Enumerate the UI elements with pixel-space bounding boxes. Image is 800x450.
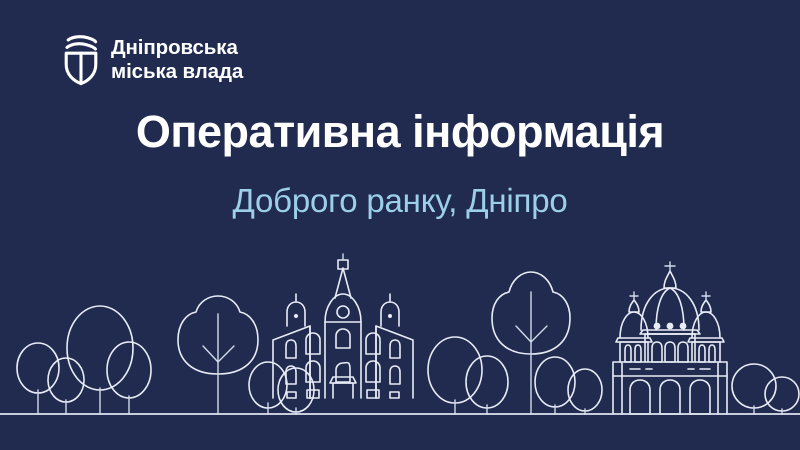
tree-tall-cloud-right — [492, 272, 570, 414]
brand-logo[interactable]: Дніпровська міська влада — [62, 34, 243, 86]
tree-small-pair-left — [249, 362, 314, 414]
building-city-hall — [273, 254, 413, 398]
building-cathedral — [613, 262, 727, 414]
shield-icon — [62, 34, 100, 86]
dnipro-skyline-illustration — [0, 250, 800, 450]
brand-wordmark: Дніпровська міська влада — [111, 36, 243, 84]
brand-line-1: Дніпровська — [111, 36, 243, 60]
tree-small-pair-far-right — [732, 364, 799, 414]
tree-small-left-1 — [17, 343, 59, 414]
tree-medium-oval — [107, 342, 151, 414]
page-subtitle: Доброго ранку, Дніпро — [0, 183, 800, 219]
tree-small-oval-center — [466, 356, 508, 414]
page-title: Оперативна інформація — [0, 108, 800, 155]
poster-canvas: Дніпровська міська влада Оперативна інфо… — [0, 0, 800, 450]
brand-line-2: міська влада — [111, 60, 243, 84]
tree-small-pair-right — [535, 357, 602, 414]
tree-tall-cloud-left — [178, 296, 258, 414]
